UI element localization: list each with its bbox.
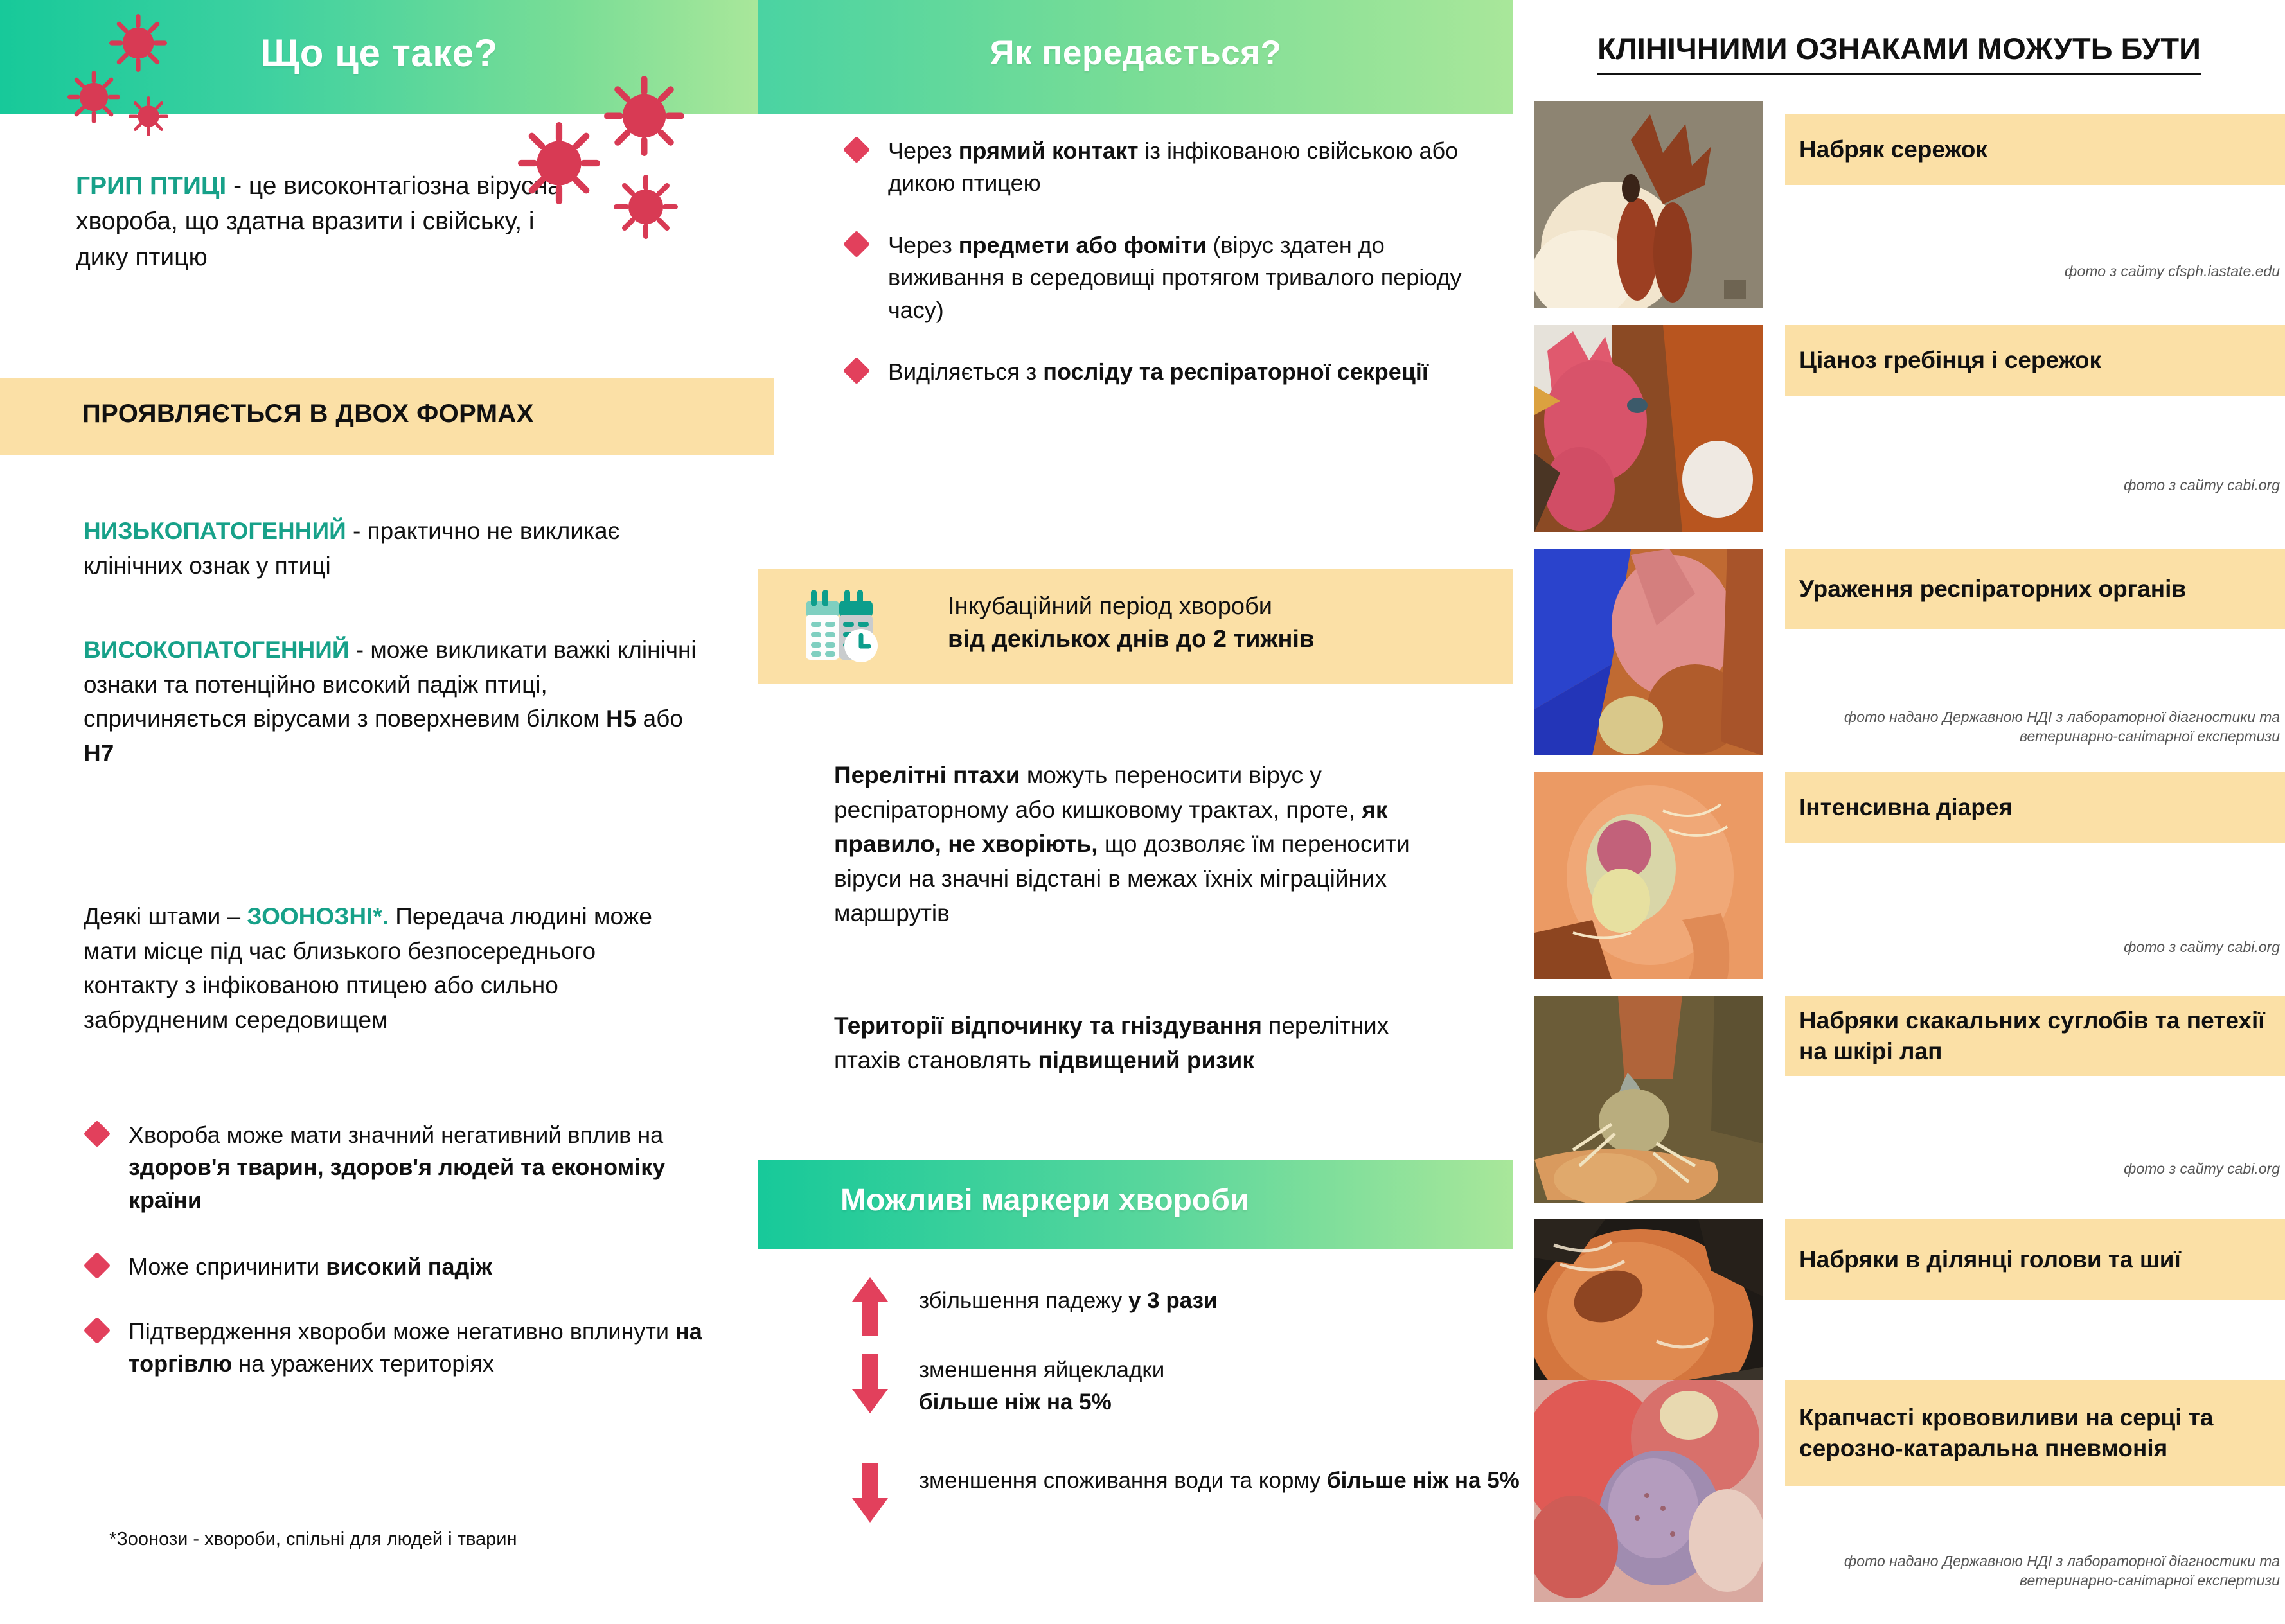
bullet-bold: прямий контакт bbox=[959, 137, 1139, 164]
clinical-sign-label: Набряки в ділянці голови та шиї bbox=[1785, 1219, 2285, 1300]
footnote: *Зоонози - хвороби, спільні для людей і … bbox=[109, 1529, 517, 1550]
markers-band-title: Можливі маркери хвороби bbox=[840, 1183, 1249, 1218]
marker-item: зменшення споживання води та корму більш… bbox=[835, 1465, 1561, 1497]
left-header-band: Що це таке? bbox=[0, 0, 758, 114]
virus-icon bbox=[614, 175, 678, 242]
protein-h5: H5 bbox=[606, 705, 636, 732]
arrow-down-icon bbox=[849, 1462, 891, 1524]
bullet-bold: посліду та респіраторної секреції bbox=[1043, 358, 1428, 385]
incubation-line2: від декількох днів до 2 тижнів bbox=[948, 623, 1314, 656]
clinical-signs-heading: КЛІНІЧНИМИ ОЗНАКАМИ МОЖУТЬ БУТИ bbox=[1513, 31, 2285, 83]
clinical-sign-label-text: Ураження респіраторних органів bbox=[1799, 574, 2186, 604]
clinical-sign-label: Інтенсивна діарея bbox=[1785, 772, 2285, 843]
bullet-text-tail: на уражених територіях bbox=[232, 1350, 494, 1377]
chicken-head-swollen-wattles-photo bbox=[1534, 101, 1763, 308]
marker-item: збільшення падежу у 3 рази bbox=[835, 1285, 1561, 1317]
low-pathogenic-paragraph: НИЗЬКОПАТОГЕННИЙ - практично не викликає… bbox=[84, 514, 700, 583]
list-item: Через предмети або фоміти (вірус здатен … bbox=[835, 229, 1478, 326]
chicken-cyanotic-comb-photo bbox=[1534, 325, 1763, 532]
marker-text: зменшення споживання води та корму bbox=[919, 1468, 1327, 1493]
photo-credit: фото з сайту cabi.org bbox=[1779, 476, 2280, 495]
bullet-text: Через bbox=[888, 232, 959, 258]
photo-credit: фото з сайту cfsph.iastate.edu bbox=[1779, 262, 2280, 281]
forms-band: ПРОЯВЛЯЄТЬСЯ В ДВОХ ФОРМАХ bbox=[0, 378, 774, 455]
forms-band-title: ПРОЯВЛЯЄТЬСЯ В ДВОХ ФОРМАХ bbox=[82, 400, 534, 428]
clinical-sign-label-text: Інтенсивна діарея bbox=[1799, 792, 2013, 822]
column-clinical-signs: КЛІНІЧНИМИ ОЗНАКАМИ МОЖУТЬ БУТИ Набряк с… bbox=[1513, 0, 2285, 1624]
photo-credit: фото з сайту cabi.org bbox=[1779, 938, 2280, 957]
bullet-text: Хвороба може мати значний негативний впл… bbox=[129, 1122, 663, 1148]
chicken-respiratory-lesion-photo bbox=[1534, 549, 1763, 755]
calendar-clock-icon bbox=[797, 587, 880, 670]
migratory-bold-a: Перелітні птахи bbox=[834, 762, 1020, 788]
bullet-text: Виділяється з bbox=[888, 358, 1043, 385]
resting-areas-paragraph: Території відпочинку та гніздування пере… bbox=[834, 1009, 1451, 1077]
protein-h7: H7 bbox=[84, 740, 114, 766]
high-pathogenic-paragraph: ВИСОКОПАТОГЕННИЙ - може викликати важкі … bbox=[84, 633, 700, 771]
list-item: Виділяється з посліду та респіраторної с… bbox=[835, 356, 1478, 388]
zoonotic-paragraph: Деякі штами – ЗООНОЗНІ*. Передача людині… bbox=[84, 899, 688, 1037]
marker-text: збільшення падежу bbox=[919, 1288, 1128, 1313]
column-what-is-it: Що це таке? bbox=[0, 0, 758, 1624]
middle-header-title: Як передається? bbox=[758, 33, 1513, 73]
left-header-title: Що це таке? bbox=[0, 31, 758, 75]
bullet-text: Через bbox=[888, 137, 959, 164]
clinical-sign-label: Набряки скакальних суглобів та петехії н… bbox=[1785, 996, 2285, 1076]
clinical-sign-label-text: Набряки в ділянці голови та шиї bbox=[1799, 1244, 2181, 1275]
arrow-down-icon bbox=[849, 1353, 891, 1415]
clinical-sign-label: Крапчасті крововиливи на серці та серозн… bbox=[1785, 1380, 2285, 1486]
heart-petechiae-pneumonia-photo bbox=[1534, 1380, 1763, 1602]
diamond-bullet-icon bbox=[843, 231, 870, 258]
marker-item: зменшення яйцекладки більше ніж на 5% bbox=[835, 1354, 1561, 1418]
left-bullet-list: Хвороба може мати значний негативний впл… bbox=[76, 1119, 718, 1404]
marker-text: зменшення яйцекладки bbox=[919, 1357, 1164, 1382]
middle-header-band: Як передається? bbox=[758, 0, 1513, 114]
transmission-bullet-list: Через прямий контакт із інфікованою свій… bbox=[835, 135, 1478, 415]
photo-credit: фото надано Державною НДІ з лабораторної… bbox=[1779, 1552, 2280, 1591]
diamond-bullet-icon bbox=[84, 1316, 111, 1343]
arrow-up-icon bbox=[849, 1276, 891, 1337]
bullet-text: Може спричинити bbox=[129, 1253, 326, 1280]
bullet-bold: високий падіж bbox=[326, 1253, 492, 1280]
chicken-diarrhea-vent-photo bbox=[1534, 772, 1763, 979]
clinical-sign-label: Ціаноз гребінця і сережок bbox=[1785, 325, 2285, 396]
lead-highlight: ГРИП ПТИЦІ bbox=[76, 172, 226, 200]
lead-paragraph: ГРИП ПТИЦІ - це високонтагіозна вірусна … bbox=[76, 168, 564, 275]
resting-bold-a: Території відпочинку та гніздування bbox=[834, 1012, 1262, 1039]
clinical-sign-label-text: Набряк сережок bbox=[1799, 134, 1987, 164]
zoonotic-label: ЗООНОЗНІ*. bbox=[247, 903, 389, 930]
marker-bold: більше ніж на 5% bbox=[919, 1390, 1112, 1415]
diamond-bullet-icon bbox=[843, 357, 870, 384]
clinical-sign-label-text: Набряки скакальних суглобів та петехії н… bbox=[1799, 1005, 2285, 1066]
diamond-bullet-icon bbox=[84, 1120, 111, 1147]
chicken-hock-joint-swelling-photo bbox=[1534, 996, 1763, 1203]
column-how-transmitted: Як передається? Через прямий контакт із … bbox=[758, 0, 1513, 1624]
low-pathogenic-label: НИЗЬКОПАТОГЕННИЙ bbox=[84, 518, 346, 544]
diamond-bullet-icon bbox=[843, 136, 870, 163]
protein-or: або bbox=[636, 705, 683, 732]
marker-bold: більше ніж на 5% bbox=[1327, 1468, 1520, 1493]
photo-credit: фото надано Державною НДІ з лабораторної… bbox=[1779, 708, 2280, 746]
bullet-text: Підтвердження хвороби може негативно впл… bbox=[129, 1318, 675, 1345]
bullet-bold: предмети або фоміти bbox=[959, 232, 1207, 258]
clinical-sign-label: Ураження респіраторних органів bbox=[1785, 549, 2285, 629]
clinical-sign-label-text: Крапчасті крововиливи на серці та серозн… bbox=[1799, 1402, 2285, 1463]
diamond-bullet-icon bbox=[84, 1252, 111, 1279]
bullet-bold: здоров'я тварин, здоров'я людей та еконо… bbox=[129, 1154, 665, 1212]
markers-band: Можливі маркери хвороби bbox=[758, 1160, 1513, 1249]
resting-bold-b: підвищений ризик bbox=[1038, 1047, 1254, 1073]
list-item: Може спричинити високий падіж bbox=[76, 1251, 718, 1283]
marker-bold: у 3 рази bbox=[1128, 1288, 1218, 1313]
list-item: Підтвердження хвороби може негативно впл… bbox=[76, 1316, 718, 1381]
incubation-band: Інкубаційний період хвороби від декілько… bbox=[758, 569, 1513, 684]
clinical-sign-label-text: Ціаноз гребінця і сережок bbox=[1799, 345, 2101, 375]
list-item: Хвороба може мати значний негативний впл… bbox=[76, 1119, 718, 1216]
incubation-text: Інкубаційний період хвороби від декілько… bbox=[948, 590, 1314, 657]
high-pathogenic-label: ВИСОКОПАТОГЕННИЙ bbox=[84, 637, 349, 663]
clinical-sign-label: Набряк сережок bbox=[1785, 114, 2285, 185]
list-item: Через прямий контакт із інфікованою свій… bbox=[835, 135, 1478, 200]
migratory-birds-paragraph: Перелітні птахи можуть переносити вірус … bbox=[834, 758, 1451, 930]
clinical-signs-heading-text: КЛІНІЧНИМИ ОЗНАКАМИ МОЖУТЬ БУТИ bbox=[1597, 31, 2201, 75]
zoonotic-pre: Деякі штами – bbox=[84, 903, 247, 930]
photo-credit: фото з сайту cabi.org bbox=[1779, 1160, 2280, 1179]
incubation-line1: Інкубаційний період хвороби bbox=[948, 590, 1314, 623]
